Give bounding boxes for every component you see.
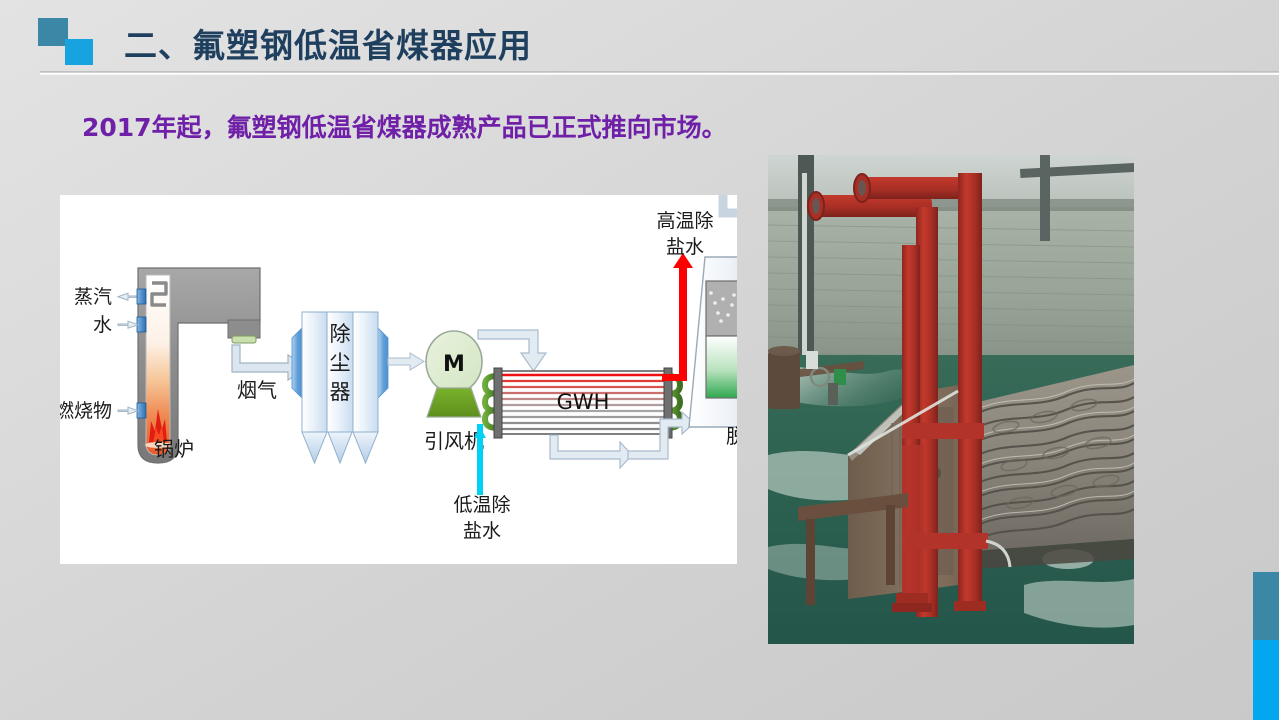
dust-collector-right-shell: [378, 328, 388, 398]
tower-slurry-section: [706, 336, 737, 398]
photo-base-plate-1: [896, 593, 928, 603]
slide-root: 二、氟塑钢低温省煤器应用 2017年起，氟塑钢低温省煤器成熟产品已正式推向市场。: [0, 0, 1279, 720]
page-title: 二、氟塑钢低温省煤器应用: [124, 19, 532, 67]
accent-top-block: [1253, 572, 1279, 640]
label-flue-gas: 烟气: [237, 378, 277, 402]
photo-vertical-conduit: [802, 173, 807, 373]
fuel-arrow-icon: [118, 407, 138, 414]
photo-base-plate-2: [892, 603, 932, 612]
desulfurization-tower-group: 脱硫塔: [689, 195, 737, 448]
dust-collector-column-1: [302, 312, 327, 432]
label-water: 水: [93, 314, 112, 336]
photo-brace-leg: [902, 445, 924, 601]
dust-collector-left-shell: [292, 328, 302, 398]
photo-tank-top: [768, 346, 800, 356]
gwh-heat-exchanger-group: GWH: [485, 368, 680, 438]
label-boiler: 锅炉: [154, 437, 194, 461]
label-fan: 引风机: [424, 429, 484, 453]
label-dust-collector-char-1: 除: [330, 322, 351, 346]
boiler-outlet-flange: [232, 336, 256, 343]
site-photo: [768, 155, 1134, 644]
boiler-group: 蒸汽 水 燃烧物 锅炉: [60, 268, 260, 463]
photo-cross-brace-top: [902, 423, 984, 439]
label-desulfurization-tower: 脱硫塔: [726, 424, 737, 448]
dust-collector-hopper-3: [353, 432, 378, 463]
tower-spray-section: [706, 281, 737, 336]
photo-flange-1-bore: [812, 198, 820, 214]
process-diagram-panel: 蒸汽 水 燃烧物 锅炉 烟气: [60, 195, 737, 564]
header-divider: [40, 71, 1279, 75]
label-fuel: 燃烧物: [60, 400, 112, 422]
label-gwh: GWH: [557, 390, 610, 414]
dust-collector-hopper-2: [328, 432, 352, 463]
duct-to-fan-arrow-icon: [388, 353, 424, 370]
tower-stack-pipe: [723, 195, 737, 213]
label-steam: 蒸汽: [74, 286, 112, 308]
corner-accent-bar: [1253, 572, 1279, 720]
duct-to-fan-group: [388, 353, 424, 370]
label-dust-collector-char-2: 尘: [330, 351, 351, 375]
gwh-left-header: [494, 368, 502, 438]
dust-collector-column-3: [353, 312, 378, 432]
steam-nozzle: [137, 289, 146, 304]
steam-arrow-icon: [118, 293, 136, 300]
photo-cross-brace-bottom: [902, 533, 988, 549]
photo-base-plate-3: [954, 601, 986, 611]
photo-pump: [828, 383, 838, 405]
fan-group: M 引风机: [424, 331, 484, 453]
decoration-square-dark: [38, 18, 68, 46]
photo-flange-2-bore: [858, 180, 866, 196]
label-hot-demin-1: 高温除: [656, 210, 713, 232]
fan-motor-symbol: M: [443, 352, 465, 377]
photo-bench-leg-2: [886, 505, 895, 585]
photo-white-box: [806, 351, 818, 369]
photo-bench-leg-1: [806, 519, 815, 605]
subtitle-text: 2017年起，氟塑钢低温省煤器成熟产品已正式推向市场。: [82, 108, 727, 144]
duct-tower-lower-arrow-icon: [550, 435, 632, 468]
label-dust-collector-char-3: 器: [330, 380, 351, 404]
fan-base: [427, 388, 481, 417]
label-cold-demin-2: 盐水: [463, 520, 501, 542]
photo-green-valve: [834, 369, 846, 385]
photo-tank: [768, 351, 800, 409]
decoration-square-light: [65, 39, 93, 65]
dust-collector-hopper-1: [302, 432, 327, 463]
water-arrow-icon: [118, 321, 138, 328]
label-cold-demin-1: 低温除: [453, 494, 510, 516]
header-decoration-squares: [38, 18, 100, 64]
accent-bottom-block: [1253, 640, 1279, 720]
hot-water-pipe-arrow-icon: [662, 253, 693, 381]
label-hot-demin-2: 盐水: [666, 236, 704, 258]
boiler-outlet-stub: [228, 320, 260, 338]
duct-fan-to-gwh-group: [478, 330, 546, 371]
duct-fan-to-gwh-arrow-icon: [478, 330, 546, 371]
dust-collector-group: 除 尘 器: [292, 312, 388, 463]
